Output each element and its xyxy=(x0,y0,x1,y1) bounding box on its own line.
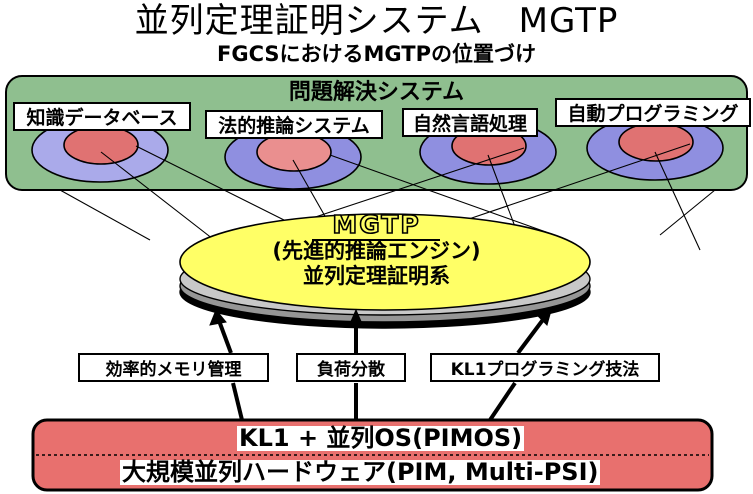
page-title: 並列定理証明システム MGTP xyxy=(0,4,753,38)
app-inner-ellipse-1 xyxy=(64,126,138,164)
app-label-natural-language-processing[interactable]: 自然言語処理 xyxy=(402,108,538,137)
foundation-to-technique-lines xyxy=(233,383,515,420)
technique-box-memory-management[interactable]: 効率的メモリ管理 xyxy=(78,353,269,382)
foundation-software-label: KL1 + 並列OS(PIMOS) xyxy=(237,426,524,451)
foundation-hardware-label: 大規模並列ハードウェア(PIM, Multi-PSI) xyxy=(120,460,600,485)
app-label-automatic-programming[interactable]: 自動プログラミング xyxy=(555,98,751,127)
diagram-canvas: 並列定理証明システム MGTP FGCSにおけるMGTPの位置づけ 問題解決シス… xyxy=(0,0,753,494)
arrow-shaft-kl1 xyxy=(518,317,545,353)
mgtp-disc-subtitle: (先進的推論エンジン) xyxy=(0,241,753,262)
page-subtitle: FGCSにおけるMGTPの位置づけ xyxy=(0,44,753,65)
mgtp-disc-description: 並列定理証明系 xyxy=(0,266,753,287)
technique-box-load-balancing[interactable]: 負荷分散 xyxy=(296,353,406,382)
app-label-legal-reasoning-system[interactable]: 法的推論システム xyxy=(205,110,383,139)
mgtp-disc-title: MGTP xyxy=(0,212,753,237)
app-label-knowledge-database[interactable]: 知識データベース xyxy=(13,102,191,131)
technique-box-kl1-programming[interactable]: KL1プログラミング技法 xyxy=(430,353,660,382)
